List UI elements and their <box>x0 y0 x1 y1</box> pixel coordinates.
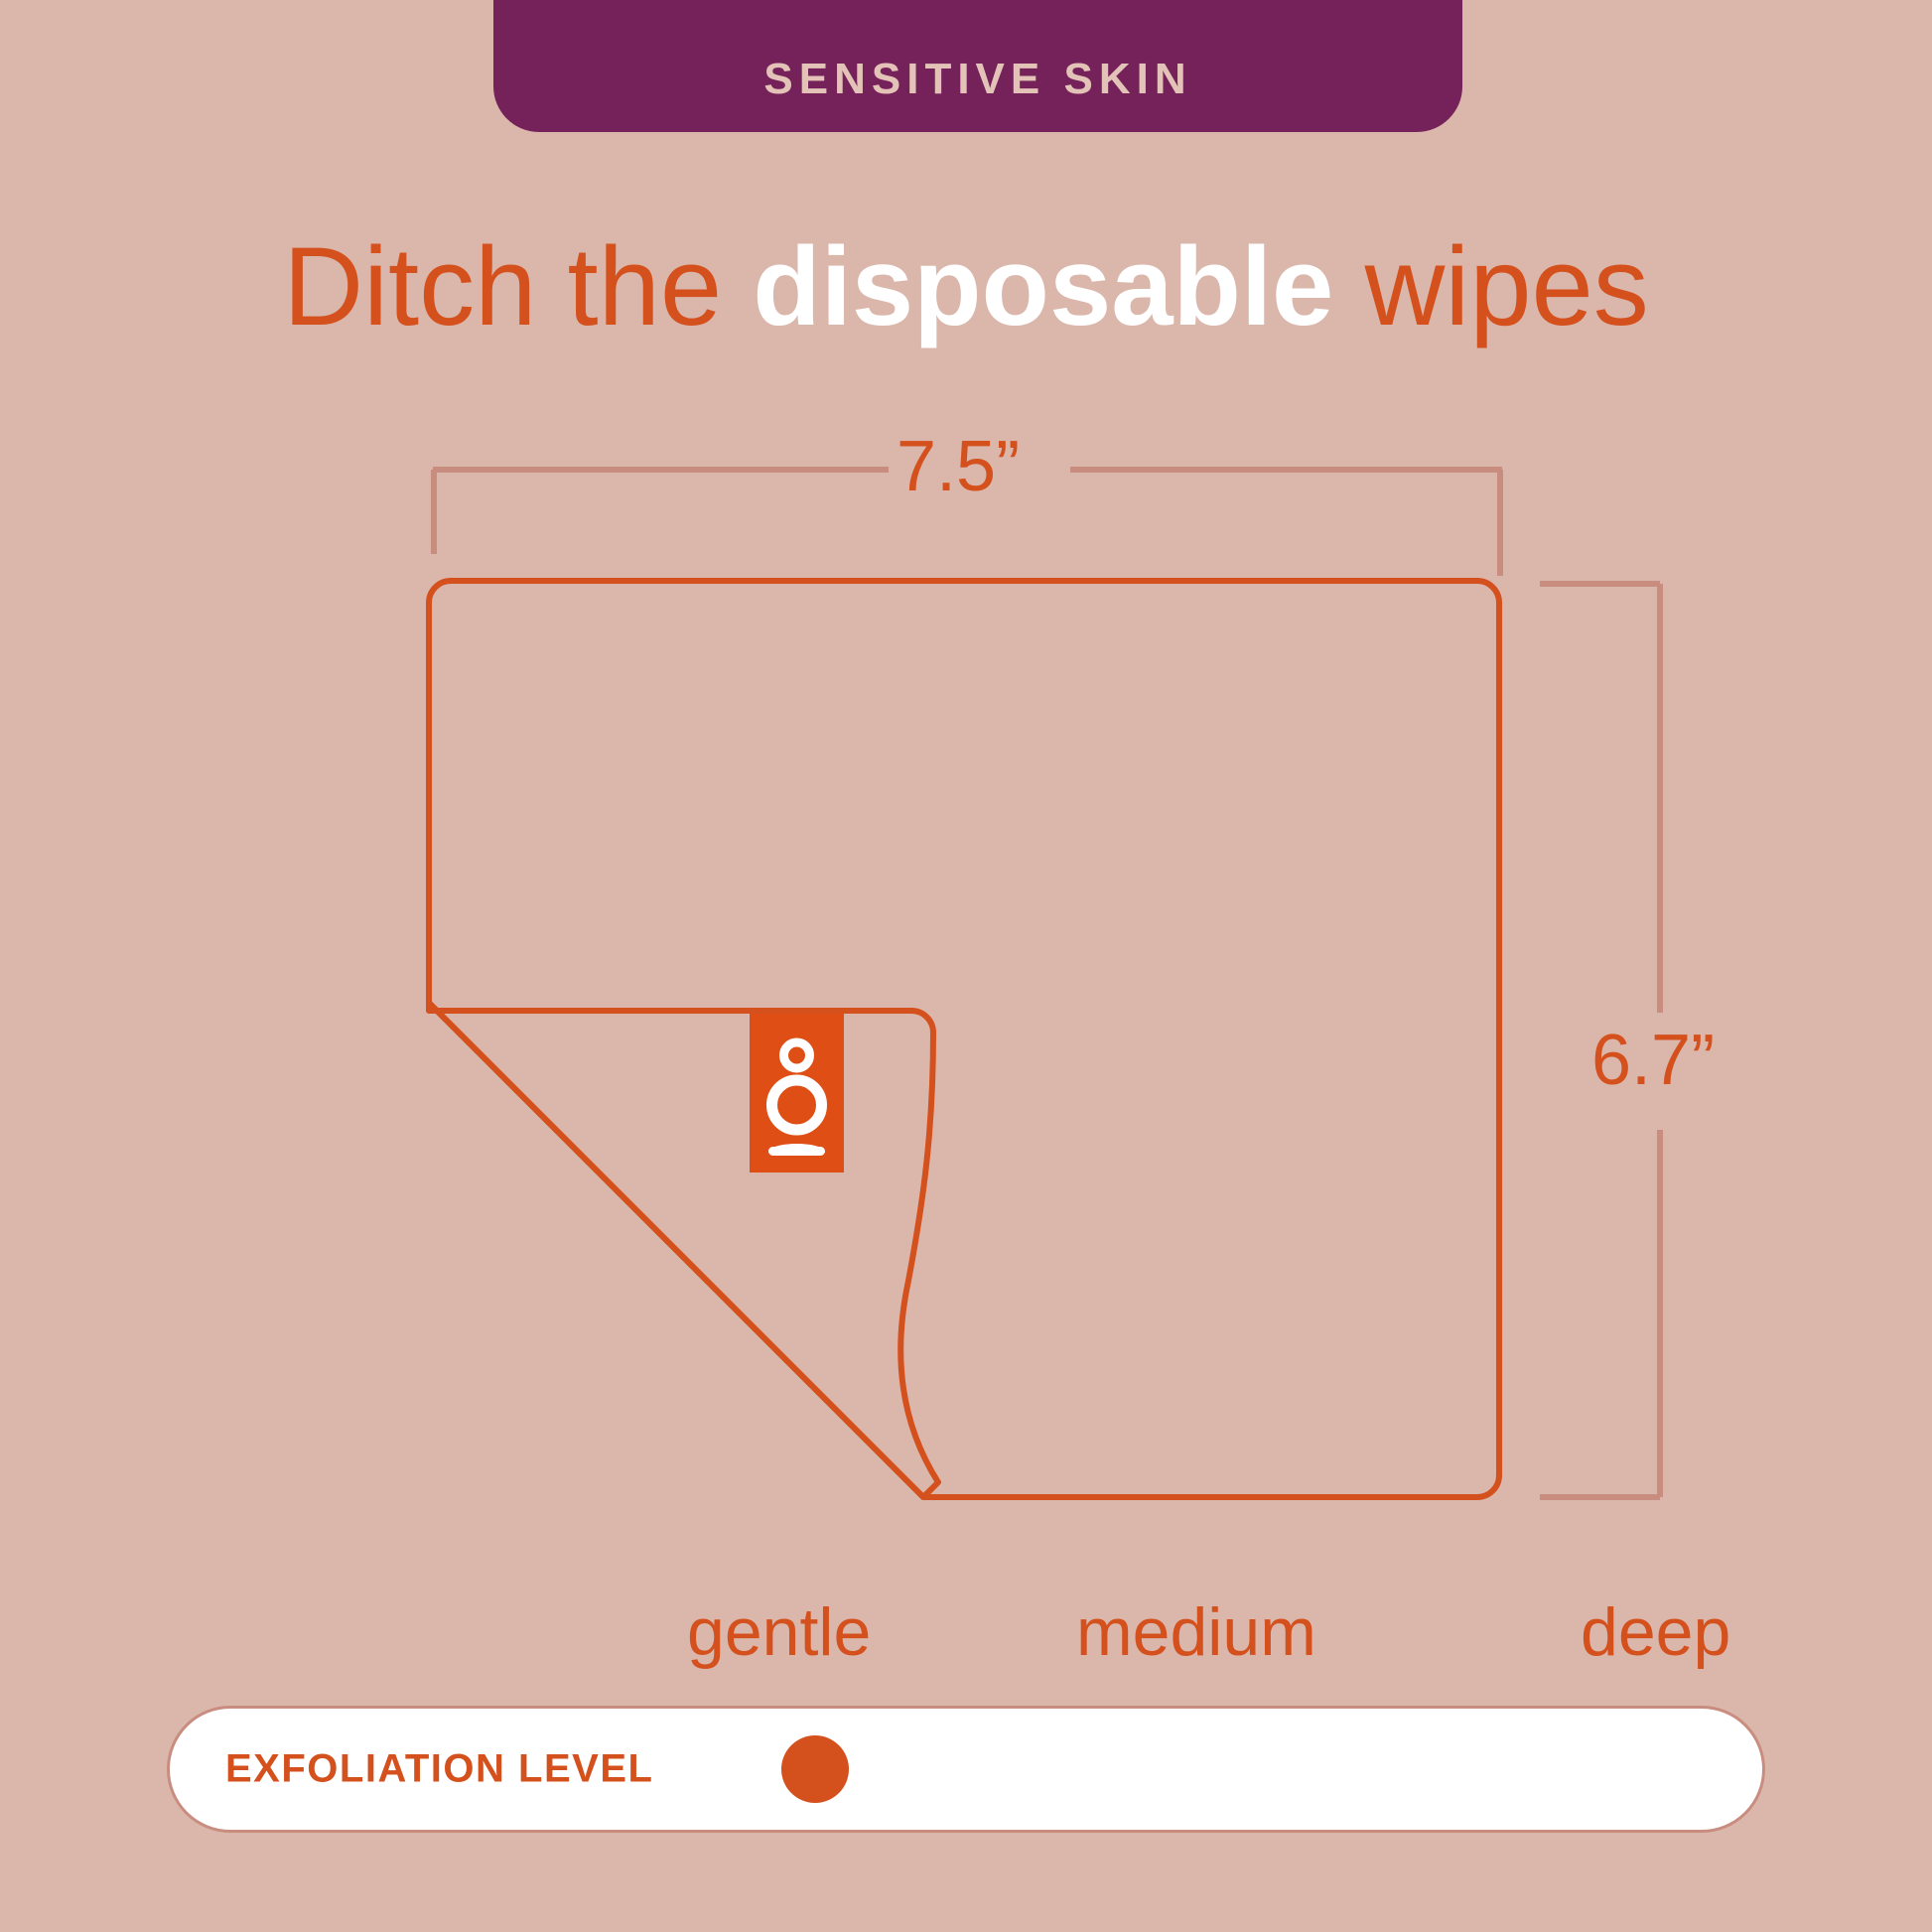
width-dimension-label: 7.5” <box>897 431 1020 502</box>
exfoliation-level-bar[interactable]: EXFOLIATION LEVEL <box>167 1706 1765 1833</box>
sensitive-skin-banner: SENSITIVE SKIN <box>493 0 1462 132</box>
brand-logo-badge <box>750 1014 844 1173</box>
exfoliation-level-indicator-dot[interactable] <box>781 1735 849 1803</box>
cloth-outline <box>429 581 1499 1497</box>
exfoliation-label-gentle: gentle <box>687 1598 871 1666</box>
infographic-page: SENSITIVE SKIN Ditch the disposable wipe… <box>0 0 1932 1932</box>
height-dimension-label: 6.7” <box>1591 1025 1715 1096</box>
banner-label: SENSITIVE SKIN <box>763 55 1191 104</box>
page-title: Ditch the disposable wipes <box>0 228 1932 345</box>
cloth-folded-corner <box>429 1003 938 1497</box>
exfoliation-label-deep: deep <box>1581 1598 1730 1666</box>
headline-part-one: Ditch the <box>283 224 753 348</box>
headline-part-three: wipes <box>1333 224 1648 348</box>
exfoliation-scale-labels: gentle medium deep <box>0 1598 1932 1688</box>
exfoliation-bar-title: EXFOLIATION LEVEL <box>225 1747 653 1792</box>
headline-emphasis: disposable <box>753 224 1333 348</box>
person-figure-logo-icon <box>750 1014 844 1173</box>
exfoliation-label-medium: medium <box>1076 1598 1316 1666</box>
